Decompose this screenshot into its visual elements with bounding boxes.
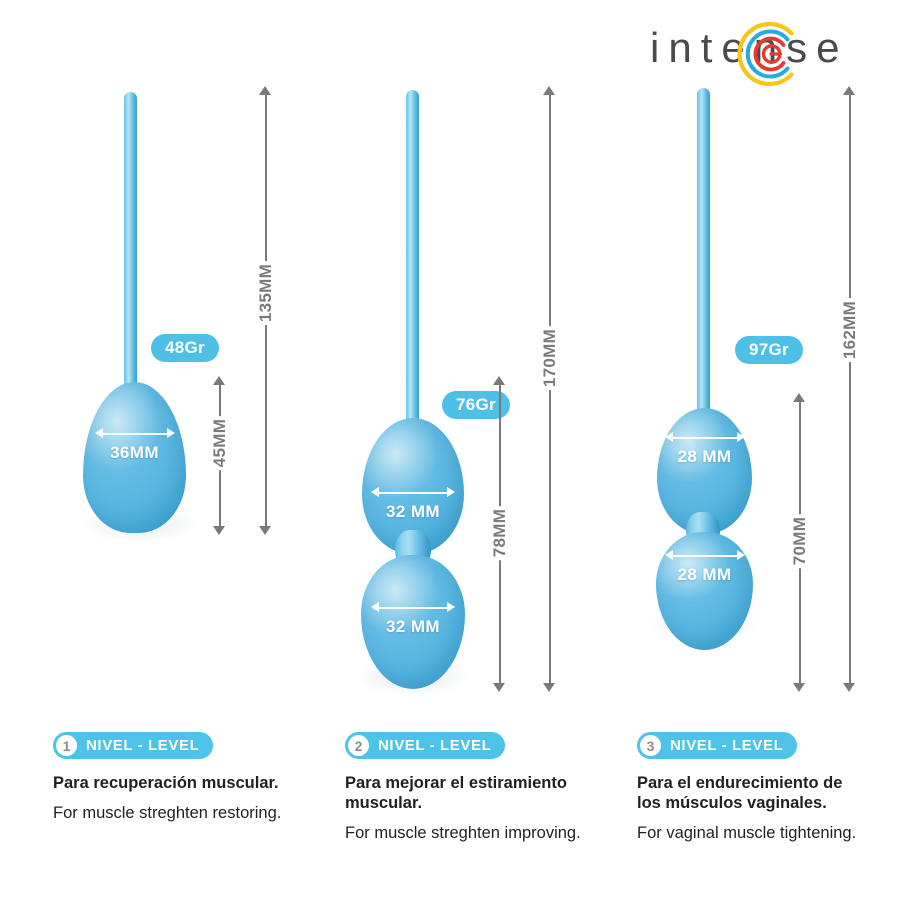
width-arrow-icon <box>95 428 175 439</box>
level-label-3: NIVEL - LEVEL <box>670 737 783 754</box>
product-3-total-length-dimension: 162MM <box>837 86 863 692</box>
product-1-width-label: 36MM <box>83 443 186 463</box>
product-3-total-length-label: 162MM <box>835 298 865 362</box>
product-3-body-height-dimension: 70MM <box>787 393 813 692</box>
caption-level-2: 2 NIVEL - LEVEL Para mejorar el estirami… <box>345 732 610 844</box>
arrow-head-bottom <box>843 683 855 692</box>
arrow-head-right <box>737 550 745 560</box>
level-label-2: NIVEL - LEVEL <box>378 737 491 754</box>
product-2-total-length-label: 170MM <box>535 326 565 390</box>
arrow-line <box>670 555 740 557</box>
caption-level-3: 3 NIVEL - LEVEL Para el endurecimiento d… <box>637 732 867 844</box>
infographic-canvas: intense 36MM <box>0 0 900 900</box>
caption-english-2: For muscle streghten improving. <box>345 823 610 844</box>
product-1-body-height-label: 45MM <box>205 416 235 470</box>
arrow-head-bottom <box>493 683 505 692</box>
product-3-tail <box>697 88 710 418</box>
level-number-1: 1 <box>56 735 77 756</box>
product-2-width-dimension-lower: 32 MM <box>361 602 465 637</box>
product-3-width-label-upper: 28 MM <box>657 447 752 467</box>
level-badge-3: 3 NIVEL - LEVEL <box>637 732 797 759</box>
width-arrow-icon <box>371 602 455 613</box>
product-2-width-label-lower: 32 MM <box>361 617 465 637</box>
product-level-2: 32 MM 32 MM 76Gr 78MM <box>300 0 600 720</box>
arrow-head-right <box>447 602 455 612</box>
product-level-3: 28 MM 28 MM 97Gr 70MM <box>600 0 900 720</box>
product-2-width-label-upper: 32 MM <box>362 502 464 522</box>
product-3-width-dimension-lower: 28 MM <box>656 550 753 585</box>
arrow-head-bottom <box>259 526 271 535</box>
product-2-body-height-label: 78MM <box>485 506 515 560</box>
product-1-total-length-dimension: 135MM <box>253 86 279 535</box>
arrow-head-right <box>167 428 175 438</box>
arrow-head-right <box>447 487 455 497</box>
caption-spanish-2: Para mejorar el estiramiento muscular. <box>345 773 610 813</box>
product-2-tail <box>406 90 419 428</box>
caption-spanish-3: Para el endurecimiento de los músculos v… <box>637 773 867 813</box>
product-1-total-length-label: 135MM <box>251 261 281 325</box>
product-1-body-height-dimension: 45MM <box>207 376 233 535</box>
product-1-tail <box>124 92 137 402</box>
product-2-body-height-dimension: 78MM <box>487 376 513 692</box>
products-stage: 36MM 48Gr 45MM 135MM <box>0 0 900 720</box>
arrow-line <box>376 607 450 609</box>
product-1-weight-badge: 48Gr <box>151 334 219 362</box>
product-1-width-dimension: 36MM <box>83 428 186 463</box>
caption-english-3: For vaginal muscle tightening. <box>637 823 867 844</box>
caption-level-1: 1 NIVEL - LEVEL Para recuperación muscul… <box>53 732 318 824</box>
arrow-head-bottom <box>543 683 555 692</box>
arrow-head-bottom <box>793 683 805 692</box>
width-arrow-icon <box>665 432 745 443</box>
level-badge-2: 2 NIVEL - LEVEL <box>345 732 505 759</box>
width-arrow-icon <box>371 487 455 498</box>
product-3-weight-badge: 97Gr <box>735 336 803 364</box>
arrow-line <box>376 492 450 494</box>
product-3-width-dimension-upper: 28 MM <box>657 432 752 467</box>
level-number-3: 3 <box>640 735 661 756</box>
product-3-width-label-lower: 28 MM <box>656 565 753 585</box>
arrow-head-right <box>737 432 745 442</box>
level-number-2: 2 <box>348 735 369 756</box>
arrow-line <box>100 433 170 435</box>
product-3-body-height-label: 70MM <box>785 514 815 568</box>
product-2-total-length-dimension: 170MM <box>537 86 563 692</box>
caption-english-1: For muscle streghten restoring. <box>53 803 318 824</box>
arrow-line <box>670 437 740 439</box>
arrow-head-bottom <box>213 526 225 535</box>
caption-spanish-1: Para recuperación muscular. <box>53 773 318 793</box>
product-2-width-dimension-upper: 32 MM <box>362 487 464 522</box>
arrow-line <box>849 93 851 685</box>
product-level-1: 36MM 48Gr 45MM 135MM <box>0 0 300 720</box>
level-label-1: NIVEL - LEVEL <box>86 737 199 754</box>
level-badge-1: 1 NIVEL - LEVEL <box>53 732 213 759</box>
width-arrow-icon <box>665 550 745 561</box>
